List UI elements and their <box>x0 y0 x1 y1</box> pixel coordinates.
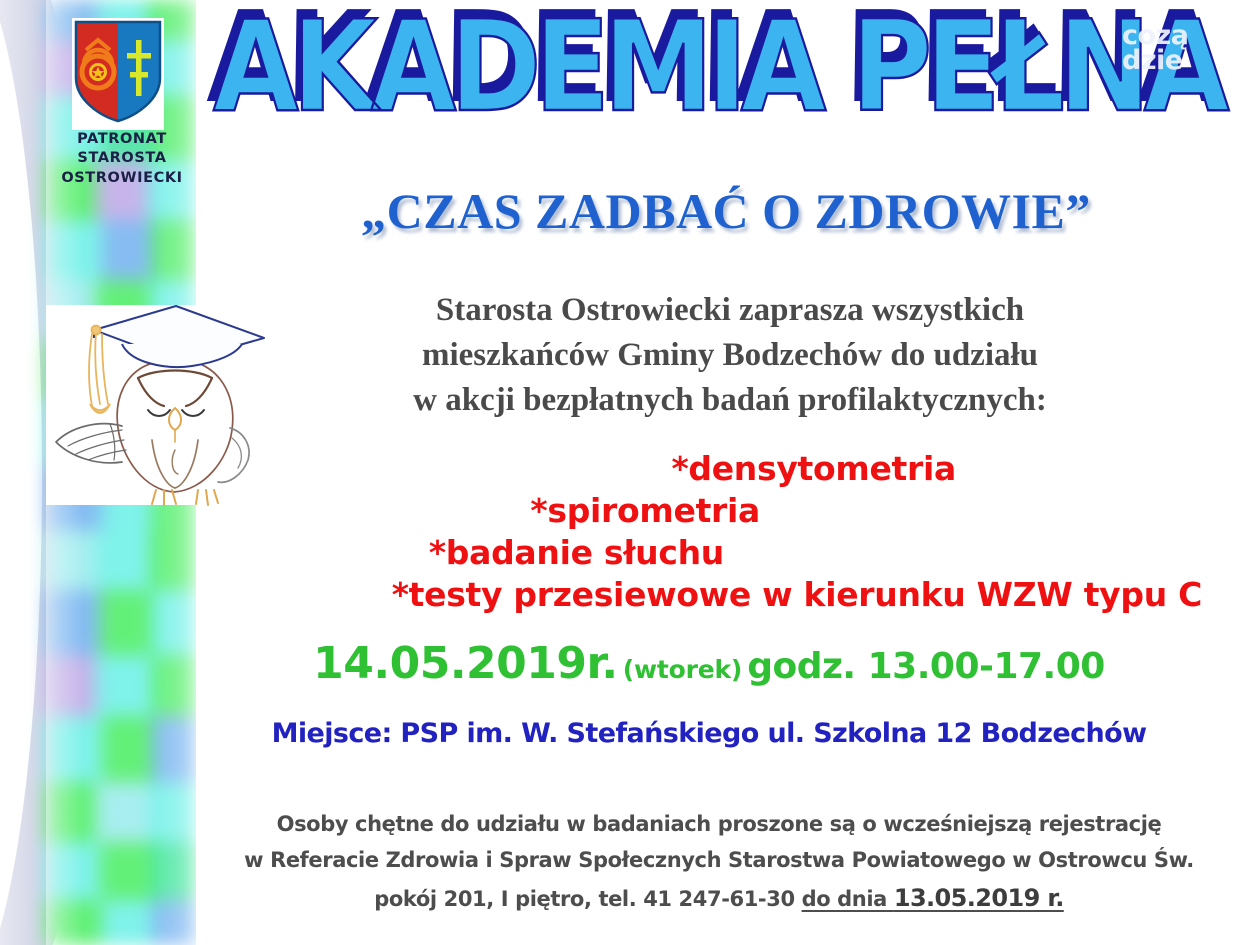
registration-line-2: w Referacie Zdrowia i Spraw Społecznych … <box>196 842 1242 878</box>
event-datetime: 14.05.2019r. (wtorek) godz. 13.00-17.00 <box>206 638 1212 689</box>
event-date: 14.05.2019r. <box>313 638 618 689</box>
invitation-line-1: Starosta Ostrowiecki zaprasza wszystkich <box>230 288 1230 333</box>
registration-contact: pokój 201, I piętro, tel. 41 247-61-30 <box>374 887 794 911</box>
coat-of-arms-icon <box>74 20 162 124</box>
invitation-paragraph: Starosta Ostrowiecki zaprasza wszystkich… <box>230 288 1230 423</box>
poster-canvas: PATRONAT STAROSTA OSTROWIECKI <box>0 0 1260 945</box>
patronage-line-2: STAROSTA <box>48 149 196 168</box>
deadline-date: 13.05.2019 r. <box>894 884 1064 912</box>
invitation-line-2: mieszkańców Gminy Bodzechów do udziału <box>230 333 1230 378</box>
patronage-line-3: OSTROWIECKI <box>48 169 196 188</box>
registration-note: Osoby chętne do udziału w badaniach pros… <box>196 806 1242 919</box>
test-item: *testy przesiewowe w kierunku WZW typu C <box>206 574 1214 616</box>
deadline-prefix: do dnia <box>802 887 887 911</box>
event-weekday: (wtorek) <box>623 655 742 684</box>
patronage-line-1: PATRONAT <box>48 130 196 149</box>
event-place: Miejsce: PSP im. W. Stefańskiego ul. Szk… <box>206 718 1212 749</box>
headline-main-text: AKADEMIA PEŁNA ZDROWIA <box>213 6 1236 138</box>
patronage-label: PATRONAT STAROSTA OSTROWIECKI <box>48 130 196 188</box>
registration-line-3: pokój 201, I piętro, tel. 41 247-61-30 d… <box>196 878 1242 919</box>
invitation-line-3: w akcji bezpłatnych badań profilaktyczny… <box>230 378 1230 423</box>
registration-deadline: do dnia 13.05.2019 r. <box>802 887 1064 911</box>
test-item: *densytometria <box>206 448 1214 490</box>
test-item: *badanie słuchu <box>206 532 1214 574</box>
event-hours: godz. 13.00-17.00 <box>747 646 1105 687</box>
registration-line-1: Osoby chętne do udziału w badaniach pros… <box>196 806 1242 842</box>
test-item: *spirometria <box>206 490 1214 532</box>
page-subtitle: „CZAS ZADBAĆ O ZDROWIE” <box>206 182 1246 240</box>
tests-list: *densytometria *spirometria *badanie słu… <box>206 448 1214 616</box>
headline: AKADEMIA PEŁNA ZDROWIA AKADEMIA PEŁNA ZD… <box>206 6 1236 138</box>
